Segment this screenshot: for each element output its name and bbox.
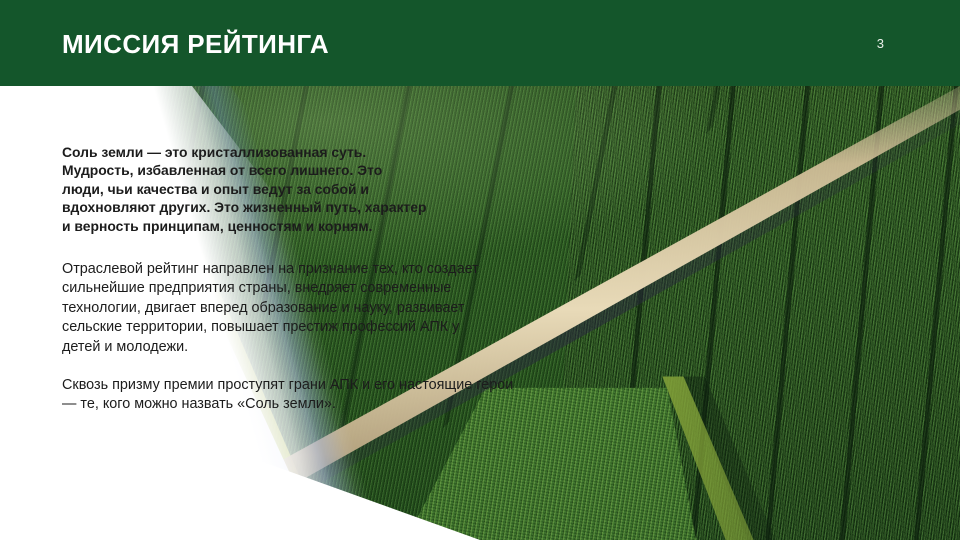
page-number: 3 (877, 36, 884, 51)
slide-body-text: Соль земли — это кристаллизованная суть.… (62, 143, 562, 415)
paragraph-3: Сквозь призму премии проступят грани АПК… (62, 376, 562, 415)
paragraph-2: Отраслевой рейтинг направлен на признани… (62, 260, 562, 357)
presentation-slide: МИССИЯ РЕЙТИНГА 3 Соль земли — это крист… (0, 0, 960, 540)
lead-paragraph: Соль земли — это кристаллизованная суть.… (62, 143, 562, 235)
slide-header-bar: МИССИЯ РЕЙТИНГА 3 (0, 0, 960, 86)
page-title: МИССИЯ РЕЙТИНГА (62, 29, 329, 60)
